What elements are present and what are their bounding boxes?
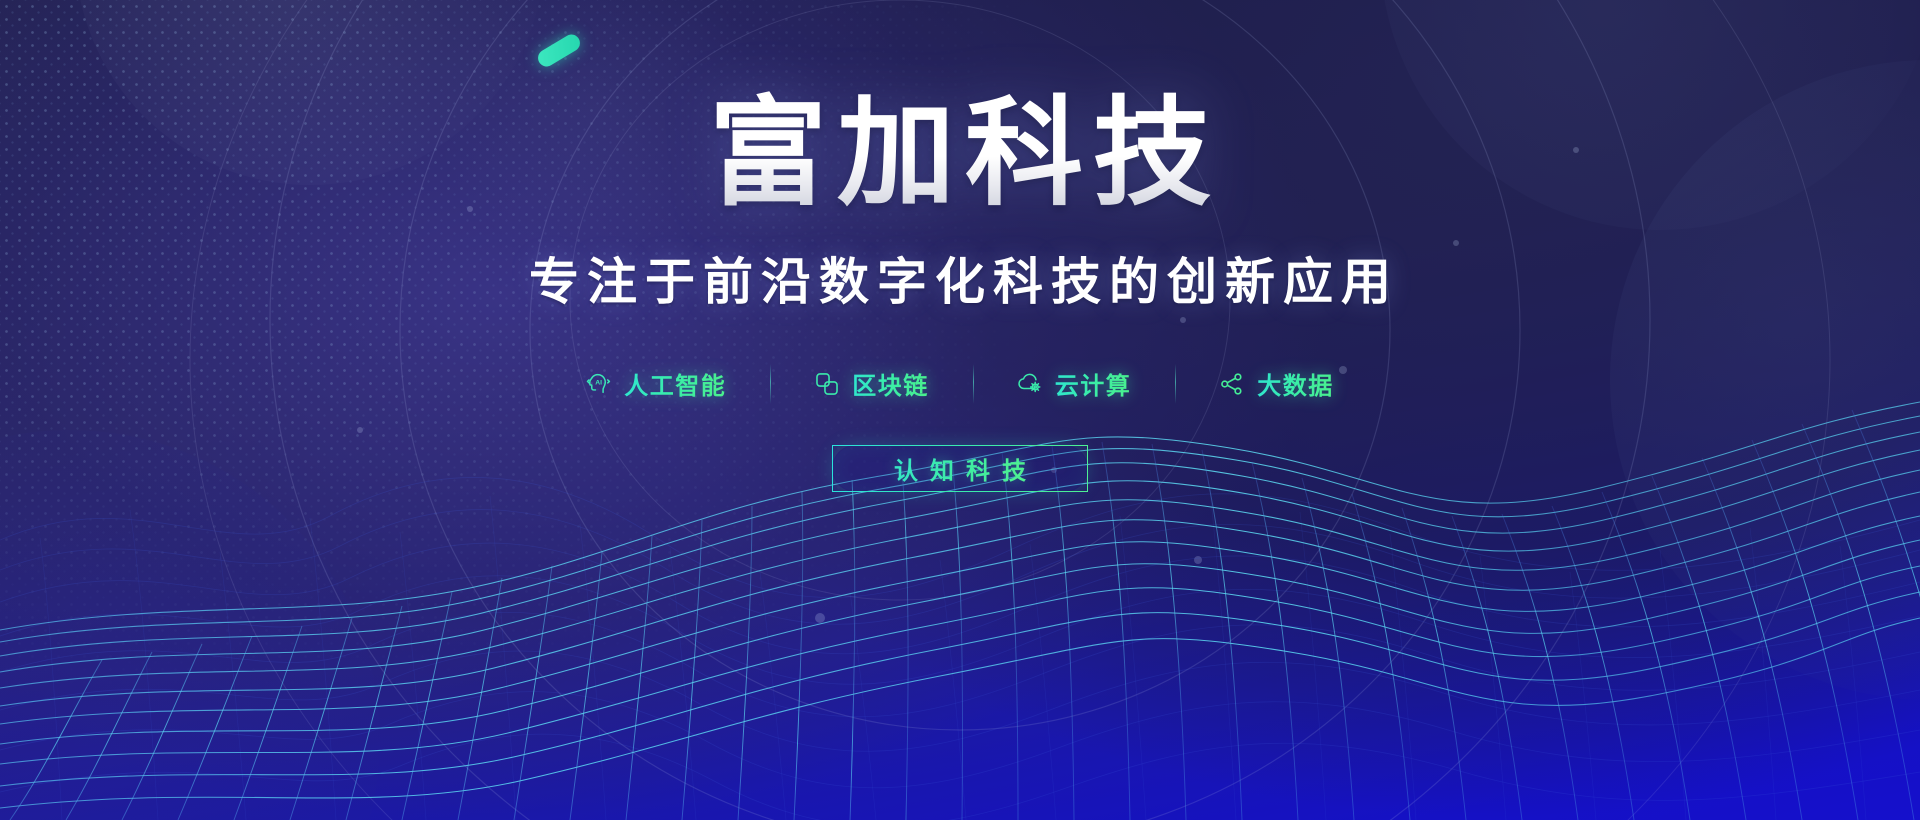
feature-tag-ai[interactable]: AI 人工智能 [542, 366, 770, 401]
feature-tag-blockchain[interactable]: 区块链 [770, 366, 973, 401]
logo-accent-stroke [535, 31, 583, 69]
feature-tag-bigdata[interactable]: 大数据 [1175, 366, 1378, 401]
badge-label: 认知科技 [882, 451, 1038, 486]
feature-tag-label: 人工智能 [624, 366, 726, 401]
cognitive-tech-badge[interactable]: 认知科技 [832, 445, 1088, 492]
hero-banner: 富加科技 专注于前沿数字化科技的创新应用 AI 人工智能 区块链 [0, 0, 1920, 820]
brand-title: 富加科技 [699, 88, 1221, 220]
feature-tag-label: 大数据 [1257, 366, 1334, 401]
hero-content: 富加科技 专注于前沿数字化科技的创新应用 AI 人工智能 区块链 [0, 0, 1920, 820]
blockchain-blocks-icon [814, 371, 840, 397]
share-nodes-icon [1219, 371, 1245, 397]
svg-text:AI: AI [595, 379, 602, 386]
feature-tag-label: 云计算 [1055, 366, 1132, 401]
ai-head-icon: AI [586, 371, 612, 397]
feature-tag-list: AI 人工智能 区块链 云计算 [542, 366, 1378, 401]
cloud-gear-icon [1017, 371, 1043, 397]
hero-subtitle: 专注于前沿数字化科技的创新应用 [521, 242, 1399, 314]
feature-tag-label: 区块链 [852, 366, 929, 401]
feature-tag-cloud[interactable]: 云计算 [973, 366, 1176, 401]
